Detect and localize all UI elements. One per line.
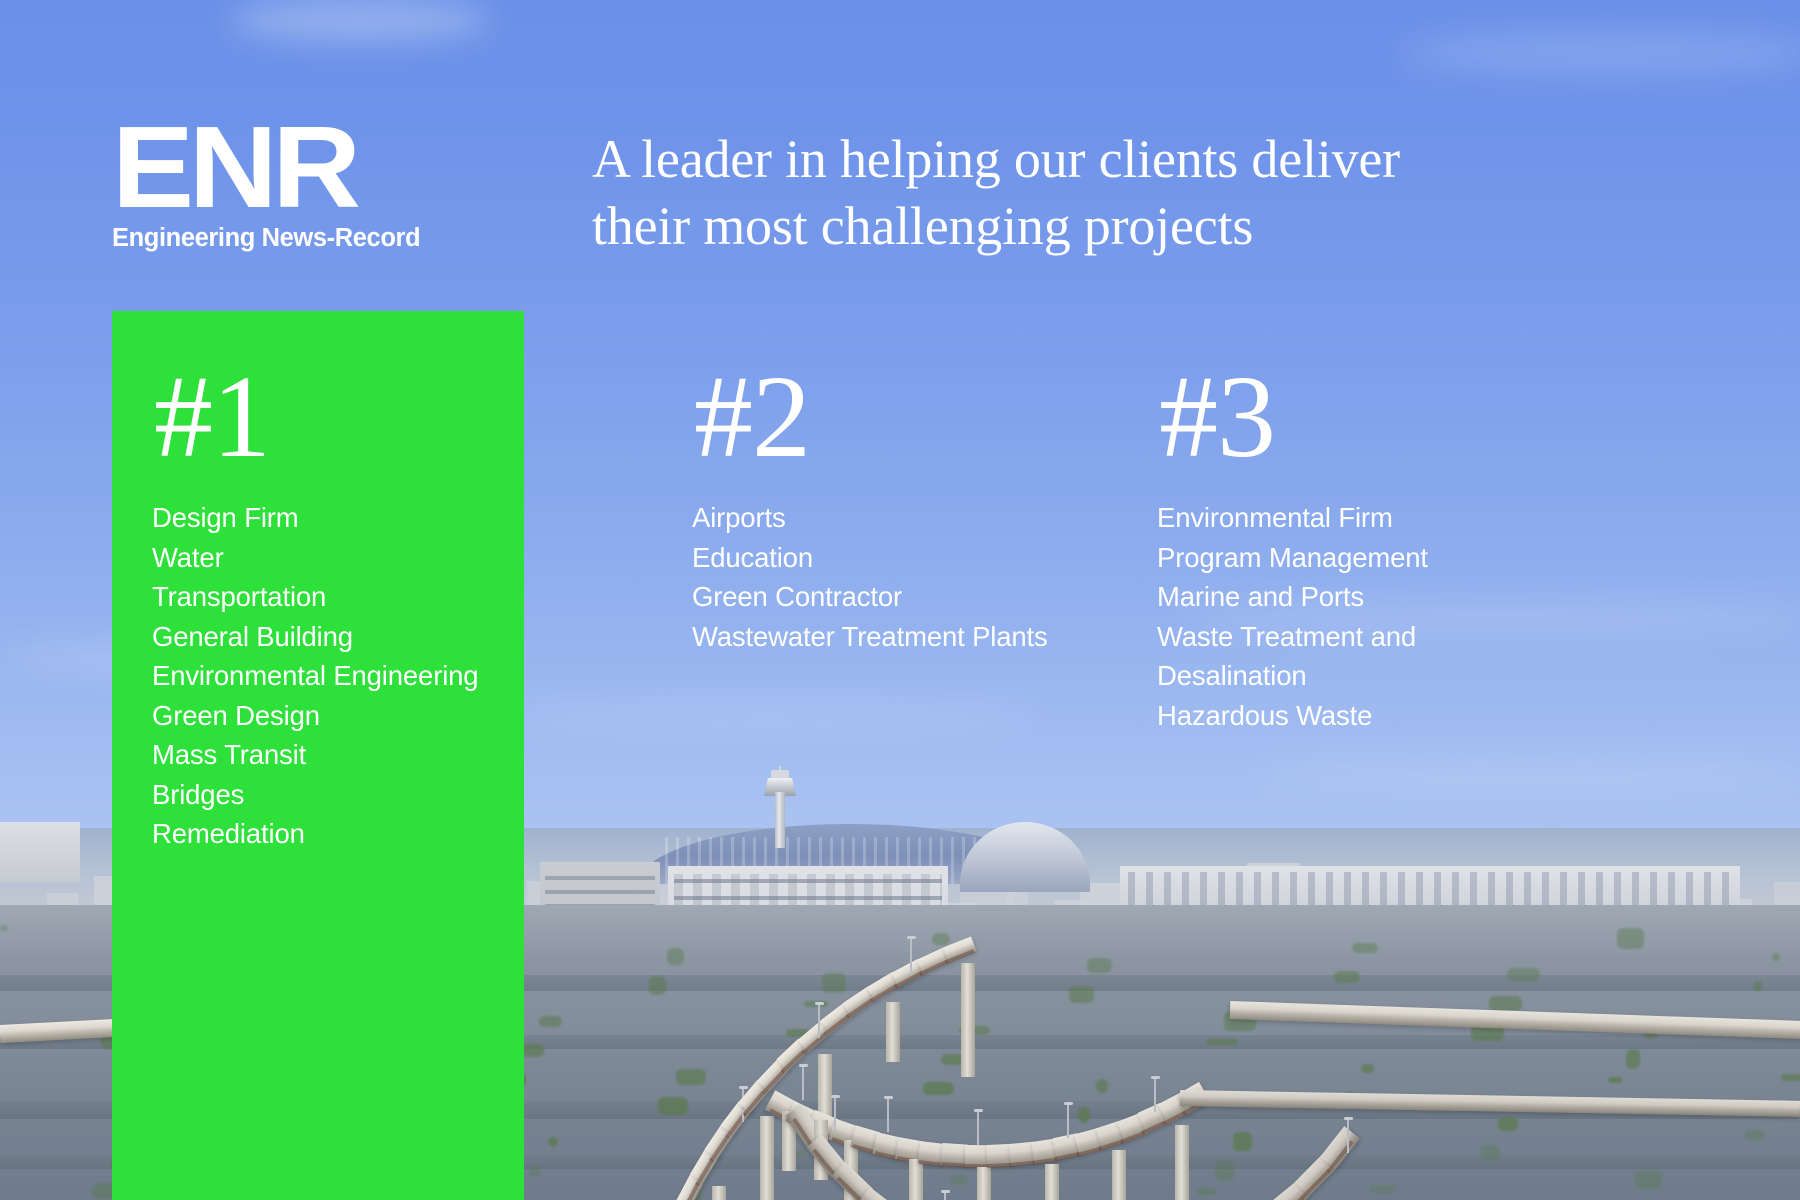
list-item: Transportation [152,577,512,617]
list-item: Water [152,538,512,578]
ranking-column-1: #1 Design Firm Water Transportation Gene… [152,358,512,854]
list-item: Green Design [152,696,512,736]
list-item: Bridges [152,775,512,815]
list-item: Green Contractor [692,577,1092,617]
list-item: Wastewater Treatment Plants [692,617,1092,657]
rank-number-3: #3 [1159,358,1557,476]
enr-wordmark: ENR [112,118,441,218]
list-item: Mass Transit [152,735,512,775]
list-item: Environmental Firm [1157,498,1557,538]
list-item: Design Firm [152,498,512,538]
poster-content: ENR Engineering News-Record A leader in … [0,0,1800,1200]
list-item: Airports [692,498,1092,538]
list-item: Program Management [1157,538,1557,578]
rank-2-list: Airports Education Green Contractor Wast… [692,498,1092,656]
rank-number-2: #2 [694,358,1092,476]
list-item: Remediation [152,814,512,854]
headline-line-2: their most challenging projects [592,193,1512,260]
list-item: Waste Treatment and Desalination [1157,617,1557,696]
rank-number-1: #1 [154,358,512,476]
list-item: Environmental Engineering [152,656,512,696]
rank-1-list: Design Firm Water Transportation General… [152,498,512,854]
enr-logo: ENR Engineering News-Record [112,118,422,253]
list-item: Education [692,538,1092,578]
list-item: Marine and Ports [1157,577,1557,617]
list-item: Hazardous Waste [1157,696,1557,736]
ranking-column-2: #2 Airports Education Green Contractor W… [692,358,1092,656]
headline-line-1: A leader in helping our clients deliver [592,126,1512,193]
page-title: A leader in helping our clients deliver … [592,126,1512,260]
list-item: General Building [152,617,512,657]
rank-3-list: Environmental Firm Program Management Ma… [1157,498,1557,735]
ranking-column-3: #3 Environmental Firm Program Management… [1157,358,1557,735]
